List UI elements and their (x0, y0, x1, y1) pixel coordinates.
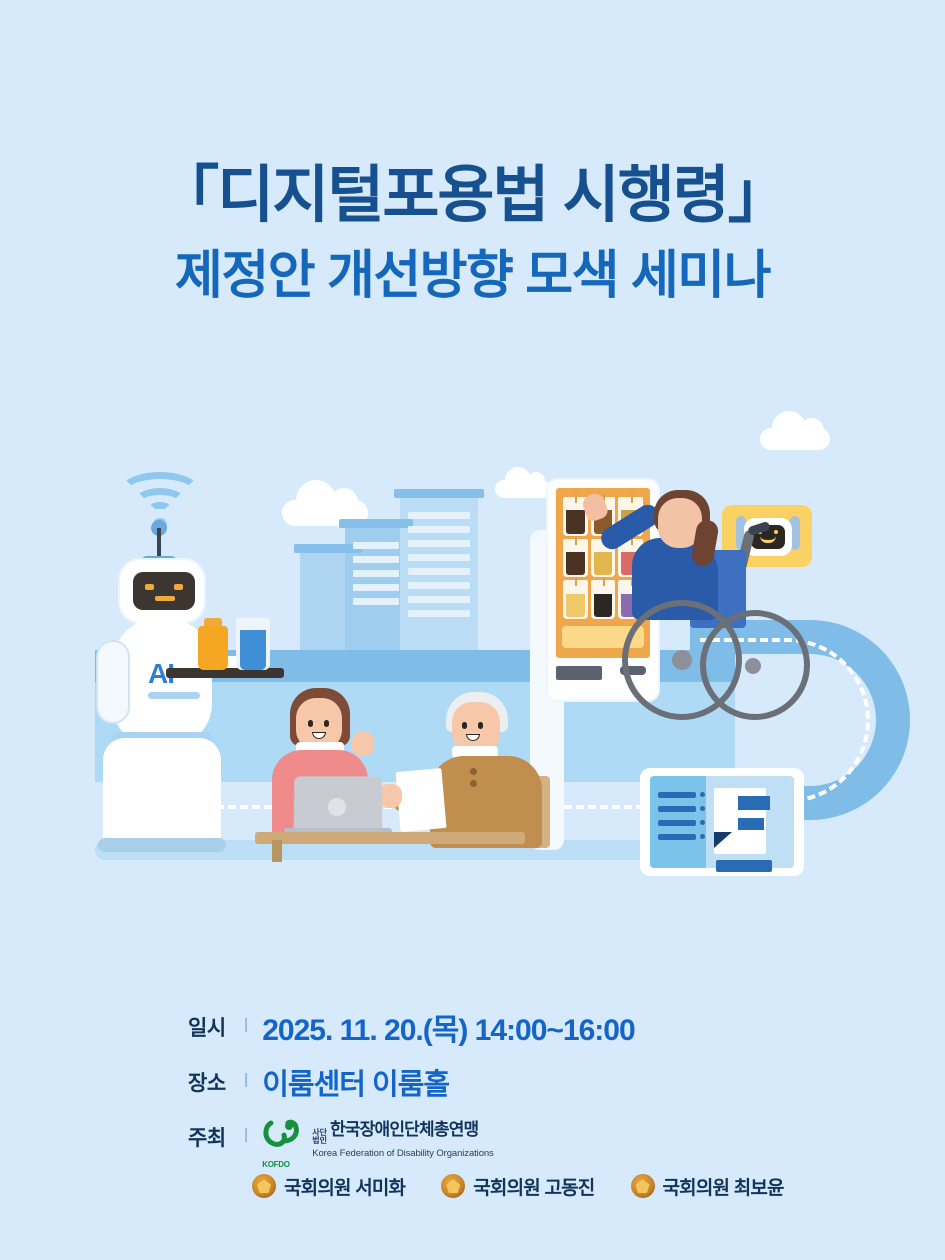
illustration: AI (0, 420, 945, 910)
sign-language-shape (738, 796, 770, 810)
elder-eye-right (478, 722, 483, 729)
building-window (408, 610, 470, 617)
kofdo-text-block: 사단 법인 한국장애인단체총연맹 Korea Federation of Dis… (312, 1115, 493, 1159)
laptop-logo (328, 798, 346, 816)
building-window (408, 540, 470, 547)
robot-face-screen (133, 572, 195, 610)
bottle-icon (198, 626, 228, 670)
building-window (408, 512, 470, 519)
row-separator: l (244, 1071, 248, 1093)
wheel-hub (745, 658, 761, 674)
building-window (408, 526, 470, 533)
building-roof (294, 544, 362, 553)
robot-eye-right (174, 584, 183, 590)
elder-button (470, 768, 477, 775)
robot-base-foot (98, 838, 226, 852)
tablet-text-line (658, 806, 696, 812)
tablet-text-line (658, 792, 696, 798)
robot-eye-left (145, 584, 154, 590)
building-window (353, 542, 399, 549)
legislator-item: 국회의원 최보윤 (631, 1173, 784, 1200)
kofdo-mark-icon: KOFDO (262, 1117, 306, 1157)
building-window (408, 554, 470, 561)
tablet-bullet (700, 834, 705, 839)
building-window (408, 596, 470, 603)
title-block: 「디지털포용법 시행령」 제정안 개선방향 모색 세미나 (0, 160, 945, 308)
national-assembly-emblem-icon (252, 1174, 276, 1198)
tablet-action-bar (716, 860, 772, 872)
building-window (408, 582, 470, 589)
place-row: 장소 l 이룸센터 이룸홀 (188, 1061, 888, 1103)
robot-arm (96, 640, 130, 724)
building-window (353, 598, 399, 605)
legislator-name: 국회의원 최보윤 (663, 1173, 784, 1200)
table-surface (255, 832, 525, 844)
building-roof (394, 489, 484, 498)
kiosk-drink-item[interactable] (563, 580, 588, 619)
building-roof (339, 519, 413, 528)
woman-face (300, 706, 338, 746)
host-row: 주최 l KOFDO 사단 법인 (188, 1115, 888, 1159)
legislator-item: 국회의원 고동진 (441, 1173, 594, 1200)
building-window (353, 556, 399, 563)
building-window (408, 568, 470, 575)
robot-accent-line (148, 692, 200, 699)
kofdo-corp-type-line2: 법인 (312, 1136, 327, 1145)
tablet-text-line (658, 834, 696, 840)
date-value: 2025. 11. 20.(목) 14:00~16:00 (262, 1005, 634, 1049)
elder-eye-left (462, 722, 467, 729)
sign-language-shape (738, 818, 764, 830)
cup-drink (240, 630, 266, 670)
elder-button (470, 780, 477, 787)
page-title: 「디지털포용법 시행령」 (0, 160, 945, 231)
kiosk-card-slot[interactable] (556, 666, 602, 680)
kofdo-logo: KOFDO 사단 법인 한국장애인단체총연맹 Korea Federation … (262, 1115, 493, 1159)
page-subtitle: 제정안 개선방향 모색 세미나 (0, 245, 945, 307)
building-window (353, 584, 399, 591)
woman-eye-right (324, 720, 329, 727)
legislator-name: 국회의원 서미화 (284, 1173, 405, 1200)
event-info: 일시 l 2025. 11. 20.(목) 14:00~16:00 장소 l 이… (188, 1005, 888, 1200)
robot-mouth (155, 596, 175, 601)
wheel-hub (672, 650, 692, 670)
building-window (353, 570, 399, 577)
sign-language-pointer (714, 832, 732, 848)
date-label: 일시 (188, 1012, 234, 1042)
kofdo-corp-type: 사단 법인 (312, 1129, 327, 1146)
row-separator: l (244, 1126, 248, 1148)
legislators-row: 국회의원 서미화 국회의원 고동진 국회의원 최보윤 (252, 1173, 888, 1200)
tablet-bullet (700, 806, 705, 811)
national-assembly-emblem-icon (631, 1174, 655, 1198)
tablet-bullet (700, 792, 705, 797)
robot-badge-eye-right (774, 530, 778, 534)
cloud-icon (760, 428, 830, 450)
kiosk-drink-item[interactable] (591, 580, 616, 619)
tablet-text-line (658, 820, 696, 826)
host-label: 주최 (188, 1122, 234, 1152)
national-assembly-emblem-icon (441, 1174, 465, 1198)
legislator-name: 국회의원 고동진 (473, 1173, 594, 1200)
legislator-item: 국회의원 서미화 (252, 1173, 405, 1200)
kofdo-mark-label: KOFDO (262, 1160, 289, 1169)
table-leg (272, 840, 282, 862)
robot-base (103, 738, 221, 848)
woman-eye-left (308, 720, 313, 727)
kiosk-drink-item[interactable] (563, 539, 588, 578)
kofdo-name-kr: 한국장애인단체총연맹 (330, 1115, 478, 1140)
place-value: 이룸센터 이룸홀 (262, 1061, 449, 1103)
document-paper (395, 768, 446, 832)
kofdo-korean-line: 사단 법인 한국장애인단체총연맹 (312, 1115, 493, 1146)
row-separator: l (244, 1016, 248, 1038)
tablet-bullet (700, 820, 705, 825)
kofdo-name-en: Korea Federation of Disability Organizat… (312, 1148, 493, 1159)
poster-root: 「디지털포용법 시행령」 제정안 개선방향 모색 세미나 (0, 0, 945, 1260)
date-row: 일시 l 2025. 11. 20.(목) 14:00~16:00 (188, 1005, 888, 1049)
woman-hand (352, 732, 374, 756)
place-label: 장소 (188, 1067, 234, 1097)
cloud-icon (495, 480, 551, 498)
